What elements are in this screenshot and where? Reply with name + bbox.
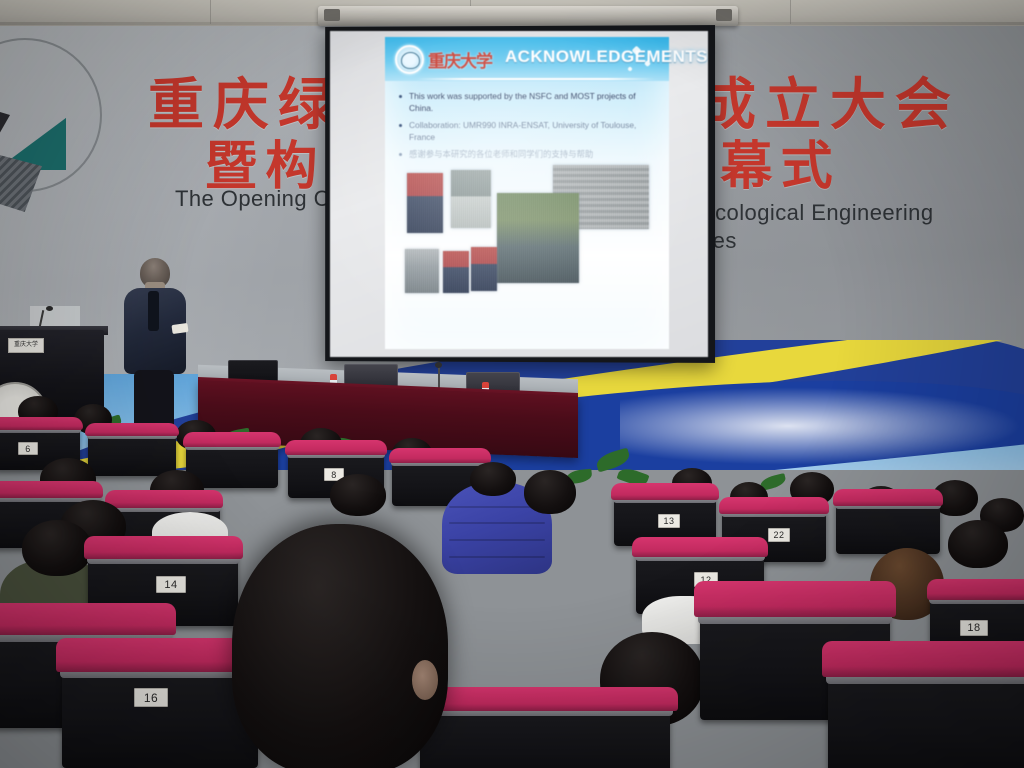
seat-number-plate: 16 — [134, 688, 168, 707]
slide-bullet-3: 感谢参与本研究的各位老师和同学们的支持与帮助 — [409, 148, 659, 160]
seat-number-plate: 18 — [960, 620, 988, 636]
podium-microphone-head — [46, 306, 53, 311]
seat-number-plate: 13 — [658, 514, 680, 528]
projector-screen-surface: 重庆大学 ACKNOWLEDGEMENTS This work was supp… — [330, 31, 708, 357]
seat-number-plate: 6 — [18, 442, 38, 455]
seat[interactable]: 16 — [62, 656, 258, 768]
presentation-slide: 重庆大学 ACKNOWLEDGEMENTS This work was supp… — [385, 37, 669, 349]
roller-cap-left — [324, 9, 340, 21]
university-seal-icon — [395, 45, 424, 74]
slide-chinese-calligraphy: 重庆大学 — [428, 47, 492, 72]
audience-head — [330, 474, 386, 516]
seat[interactable] — [88, 430, 176, 476]
banner-english-right-line1: Ecological Engineering — [700, 200, 934, 226]
slide-photo-group-outdoor — [497, 193, 579, 283]
ceiling-tile-line — [210, 0, 211, 24]
seal-inner-shape — [401, 52, 420, 69]
slide-photo-field-site — [405, 249, 439, 293]
presenter — [120, 258, 190, 428]
banner-swoosh-glow — [620, 384, 1024, 468]
podium-name-plate: 重庆大学 — [8, 338, 44, 353]
table-microphone-head — [435, 362, 442, 368]
photo-scene: 重庆绿色 成立大会 暨构建 开幕式 The Opening Cer Ecolog… — [0, 0, 1024, 768]
foreground-person-ear — [412, 660, 438, 700]
presenter-jacket-opening — [148, 291, 159, 331]
audience-head — [22, 520, 92, 576]
slide-bullet-2: Collaboration: UMR990 INRA-ENSAT, Univer… — [409, 119, 659, 143]
slide-photo-portrait-2 — [451, 170, 491, 228]
podium-plate-text: 重庆大学 — [9, 339, 43, 351]
seat-number-plate: 22 — [768, 528, 790, 542]
ceiling-tile-line — [790, 0, 791, 24]
projector-screen-roller — [318, 6, 738, 26]
seat[interactable] — [828, 660, 1024, 768]
audience-head — [948, 520, 1008, 568]
audience-head — [524, 470, 576, 514]
foreground-person-head — [232, 524, 448, 768]
bullet-marker — [399, 95, 402, 98]
slide-photo-portrait-3 — [443, 251, 469, 293]
slide-photo-portrait-1 — [407, 173, 443, 233]
bullet-marker — [399, 153, 402, 156]
bullet-marker — [399, 124, 402, 127]
seat[interactable] — [836, 498, 940, 554]
audience-head — [470, 462, 516, 496]
slide-header-rule — [417, 78, 655, 80]
slide-title: ACKNOWLEDGEMENTS — [505, 47, 708, 67]
roller-cap-right — [716, 9, 732, 21]
slide-bullet-1: This work was supported by the NSFC and … — [409, 90, 659, 114]
banner-english-left: The Opening Cer — [175, 186, 350, 212]
slide-photo-portrait-4 — [471, 247, 497, 291]
seat-number-plate: 14 — [156, 576, 186, 593]
seat[interactable] — [420, 700, 670, 768]
